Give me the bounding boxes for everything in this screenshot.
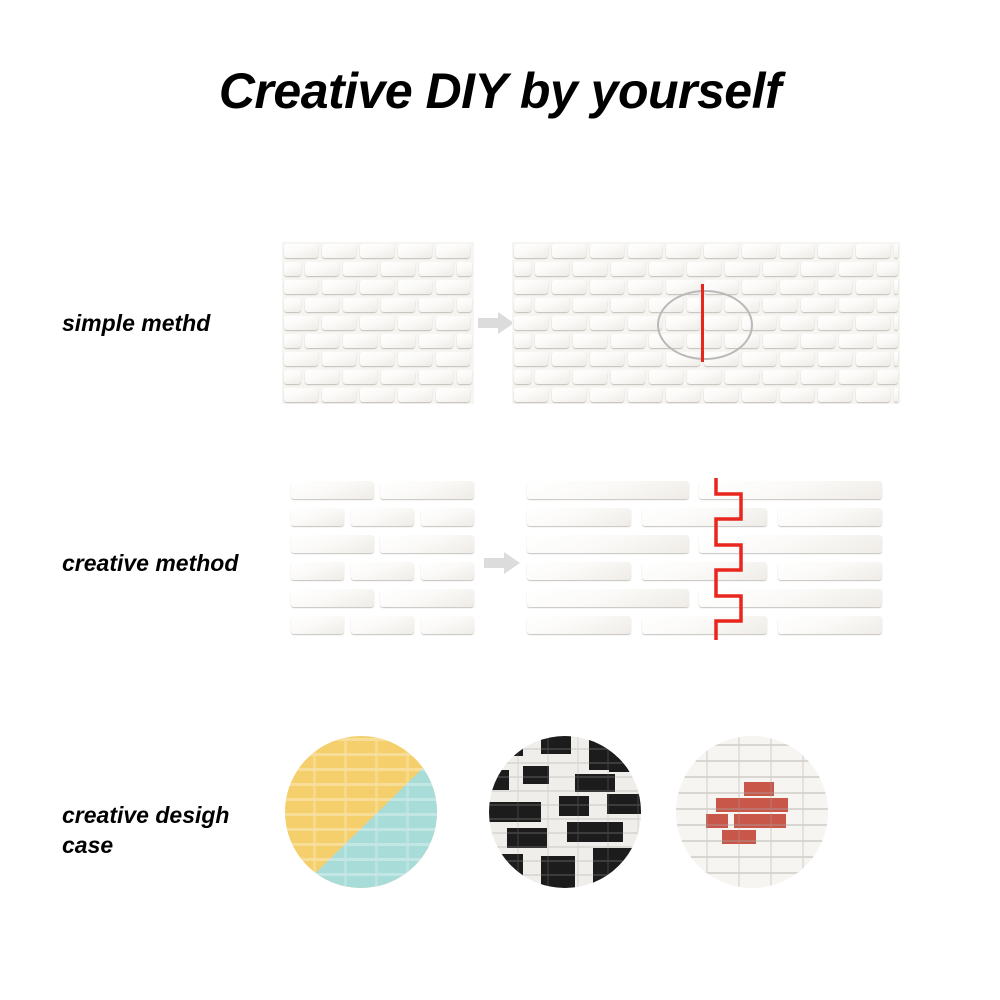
case-brick-texture xyxy=(285,736,437,888)
design-case-red-cross xyxy=(676,736,828,888)
design-case-pixel-black xyxy=(489,736,641,888)
case-brick-texture xyxy=(676,736,828,888)
case-brick-texture xyxy=(489,736,641,888)
design-case-yellow-mint xyxy=(285,736,437,888)
